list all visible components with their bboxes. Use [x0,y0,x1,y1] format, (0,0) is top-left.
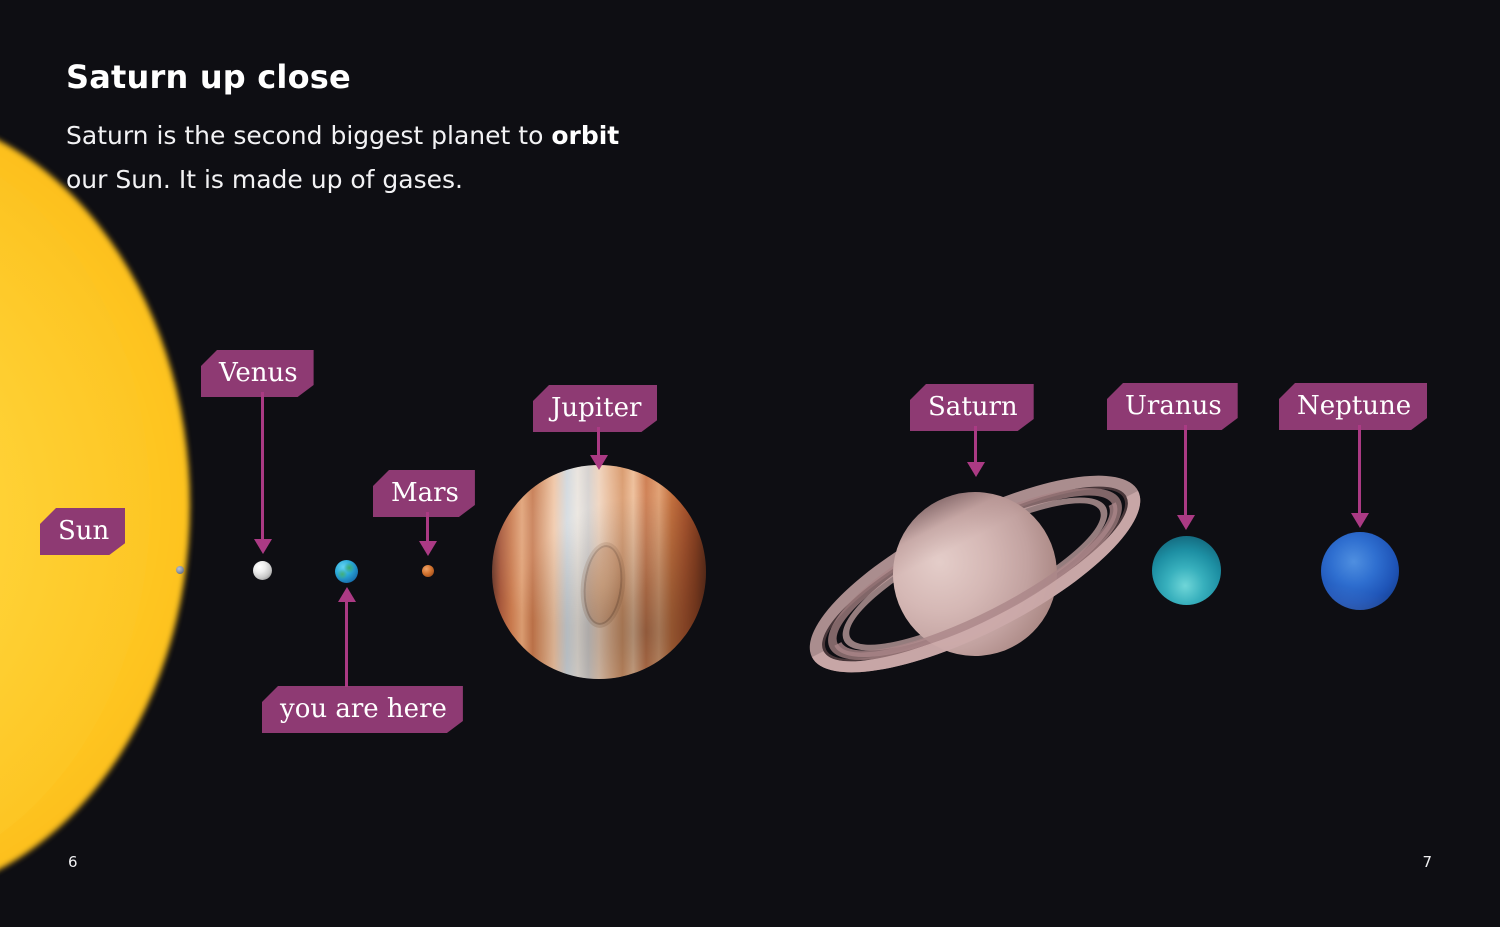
label-tag-mars[interactable]: Mars [373,470,475,517]
planet-mercury [176,566,184,574]
page-number-left: 6 [68,853,78,871]
jupiter-great-red-spot [582,545,624,624]
label-tag-uranus[interactable]: Uranus [1107,383,1238,430]
page-number-right: 7 [1422,853,1432,871]
page-body-text: Saturn is the second biggest planet to o… [66,114,766,202]
planet-jupiter [492,465,706,679]
label-tag-you-are-here[interactable]: you are here [262,686,463,733]
label-tag-jupiter[interactable]: Jupiter [533,385,657,432]
page-title: Saturn up close [66,58,351,96]
connector-line-venus [261,392,264,539]
arrow-head-jupiter [590,455,608,470]
book-spread-page: Saturn up close Saturn is the second big… [0,0,1500,927]
label-tag-venus[interactable]: Venus [201,350,314,397]
planet-venus [253,561,272,580]
connector-line-jupiter [597,427,600,455]
planet-mars [422,565,434,577]
connector-line-saturn [974,426,977,462]
label-tag-sun[interactable]: Sun [40,508,125,555]
connector-line-neptune [1358,425,1361,513]
planet-earth [335,560,358,583]
planet-uranus [1152,536,1221,605]
body-text-lead: Saturn is the second biggest planet to [66,121,551,150]
arrow-head-neptune [1351,513,1369,528]
arrow-head-venus [254,539,272,554]
arrow-head-you-are-here [338,587,356,602]
label-tag-saturn[interactable]: Saturn [910,384,1034,431]
planet-neptune [1321,532,1399,610]
connector-line-uranus [1184,425,1187,515]
connector-line-mars [426,512,429,541]
body-text-tail: our Sun. It is made up of gases. [66,165,463,194]
connector-line-you-are-here [345,601,348,687]
body-text-keyword: orbit [551,121,619,150]
arrow-head-saturn [967,462,985,477]
arrow-head-mars [419,541,437,556]
arrow-head-uranus [1177,515,1195,530]
label-tag-neptune[interactable]: Neptune [1279,383,1427,430]
